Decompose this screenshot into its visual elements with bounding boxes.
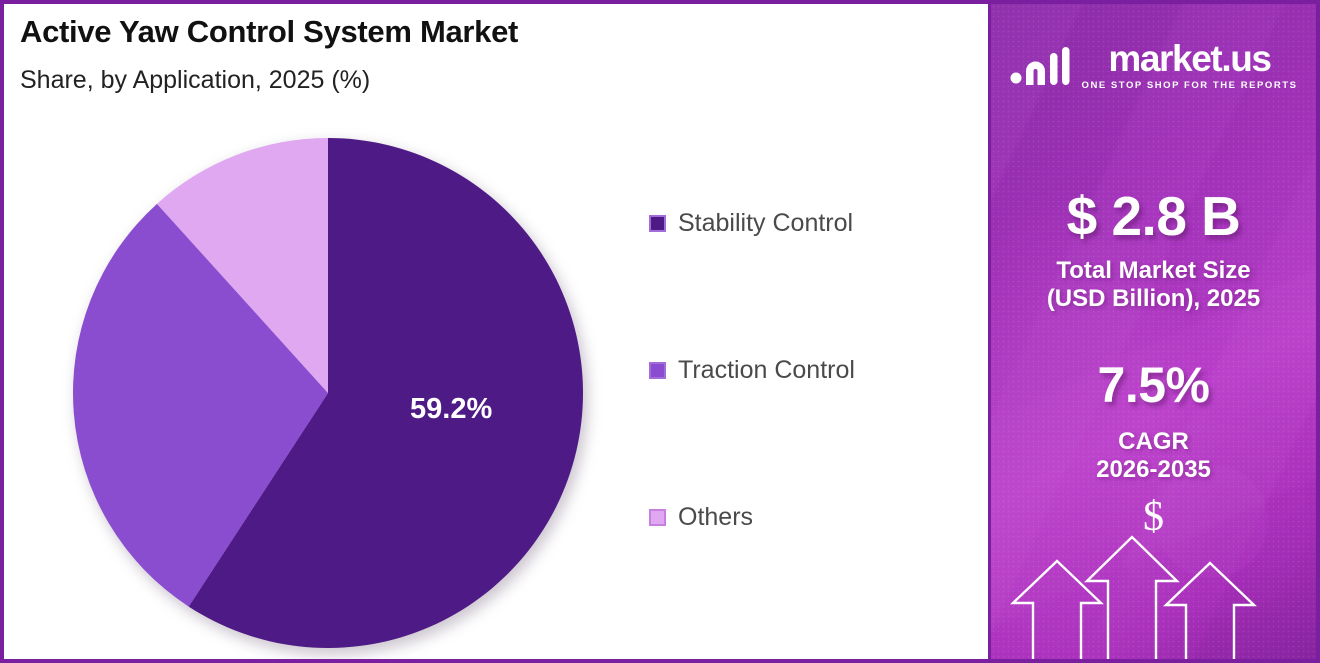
market-size-caption-line1: Total Market Size (991, 257, 1316, 285)
brand-logo[interactable]: market.us ONE STOP SHOP FOR THE REPORTS (991, 40, 1316, 91)
legend-swatch-icon (649, 362, 666, 379)
pie-chart: 59.2% (72, 137, 584, 649)
legend-item-stability-control[interactable]: Stability Control (649, 209, 969, 237)
brand-logo-tagline: ONE STOP SHOP FOR THE REPORTS (1082, 80, 1298, 91)
infographic-root: Active Yaw Control System Market Share, … (0, 0, 1320, 663)
legend-item-label: Traction Control (678, 356, 855, 385)
market-size-caption: Total Market Size (USD Billion), 2025 (991, 257, 1316, 314)
market-us-bars-icon (1010, 45, 1072, 87)
up-arrows-icon (991, 499, 1316, 659)
cagr-caption-line1: CAGR (991, 428, 1316, 456)
cagr-value: 7.5% (991, 356, 1316, 414)
brand-logo-wordmark: market.us (1108, 40, 1270, 77)
cagr-caption: CAGR 2026-2035 (991, 428, 1316, 485)
pie-slice-label-stability-control: 59.2% (410, 393, 492, 426)
brand-stats-panel: market.us ONE STOP SHOP FOR THE REPORTS … (988, 4, 1316, 659)
page-subtitle: Share, by Application, 2025 (%) (20, 66, 370, 95)
legend-swatch-icon (649, 509, 666, 526)
cagr-caption-line2: 2026-2035 (991, 456, 1316, 484)
market-size-caption-line2: (USD Billion), 2025 (991, 285, 1316, 313)
page-title: Active Yaw Control System Market (20, 14, 518, 50)
market-size-value: $ 2.8 B (991, 184, 1316, 248)
legend-item-label: Stability Control (678, 209, 853, 238)
chart-legend: Stability Control Traction Control Other… (649, 209, 969, 531)
legend-item-label: Others (678, 503, 753, 532)
legend-item-traction-control[interactable]: Traction Control (649, 356, 969, 384)
legend-item-others[interactable]: Others (649, 503, 969, 531)
pie-svg (72, 137, 584, 649)
chart-area: Active Yaw Control System Market Share, … (4, 4, 988, 659)
legend-swatch-icon (649, 215, 666, 232)
